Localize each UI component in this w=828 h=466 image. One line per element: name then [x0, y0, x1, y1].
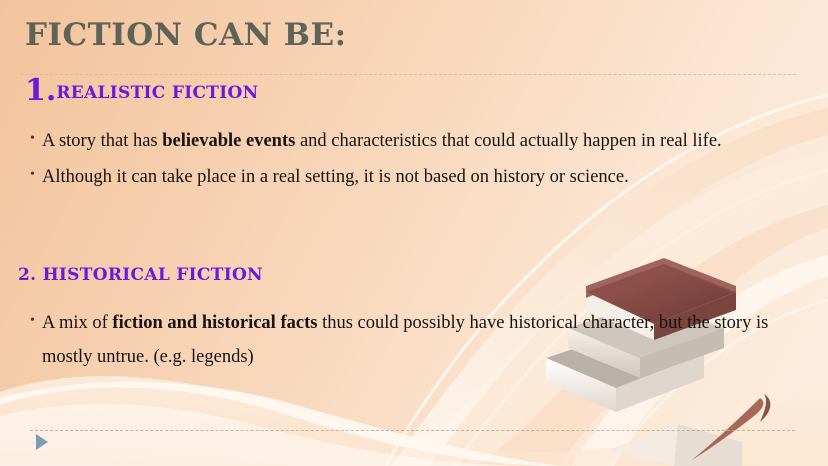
- bullet-text: A mix of fiction and historical facts th…: [42, 306, 800, 374]
- list-item: • A story that has believable events and…: [30, 124, 800, 158]
- section-number-1: 1.: [25, 73, 56, 108]
- list-item: • Although it can take place in a real s…: [30, 160, 800, 194]
- slide-canvas: FICTION CAN BE: 1.REALISTIC FICTION • A …: [0, 0, 828, 466]
- section-heading-realistic-fiction: 1.REALISTIC FICTION: [25, 76, 258, 106]
- bullet-text: A story that has believable events and c…: [42, 124, 800, 158]
- bottom-dashed-divider: [30, 430, 795, 431]
- bullet-list-realistic-fiction: • A story that has believable events and…: [30, 124, 800, 196]
- bullet-dot-icon: •: [30, 124, 42, 154]
- play-triangle-icon[interactable]: [36, 434, 48, 450]
- page-title: FICTION CAN BE:: [25, 20, 347, 51]
- bullet-list-historical-fiction: • A mix of fiction and historical facts …: [30, 306, 800, 376]
- top-dashed-divider: [20, 74, 796, 75]
- bullet-dot-icon: •: [30, 160, 42, 190]
- bullet-text: Although it can take place in a real set…: [42, 160, 800, 194]
- section-label-1: REALISTIC FICTION: [56, 83, 258, 103]
- section-heading-historical-fiction: 2. HISTORICAL FICTION: [18, 267, 263, 284]
- bullet-dot-icon: •: [30, 306, 42, 336]
- list-item: • A mix of fiction and historical facts …: [30, 306, 800, 374]
